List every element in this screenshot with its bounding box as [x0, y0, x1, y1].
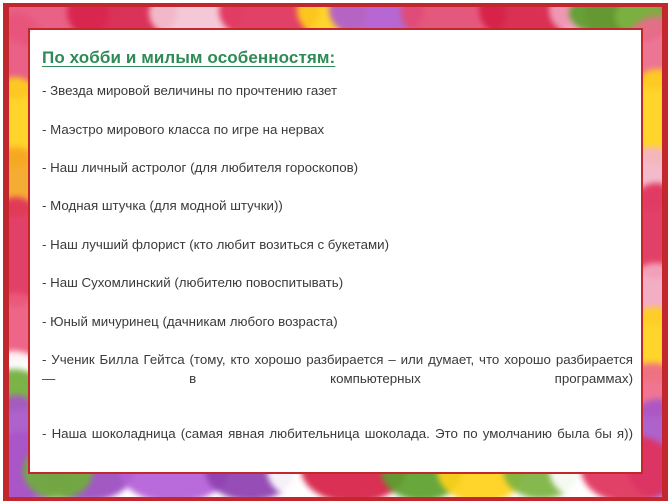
slide: По хобби и милым особенностям: - Звезда … [0, 0, 671, 504]
content-card: По хобби и милым особенностям: - Звезда … [30, 30, 641, 472]
page-title: По хобби и милым особенностям: [42, 47, 633, 68]
list-item: - Наш лучший флорист (кто любит возиться… [42, 236, 633, 255]
list-item: - Наш личный астролог (для любителя горо… [42, 159, 633, 178]
list-item: - Наша шоколадница (самая явная любитель… [42, 425, 633, 463]
nomination-list: - Звезда мировой величины по прочтению г… [42, 82, 633, 472]
list-item: - Маэстро мирового класса по игре на нер… [42, 121, 633, 140]
list-item: - Юный мичуринец (дачникам любого возрас… [42, 313, 633, 332]
list-item: - Звезда мировой величины по прочтению г… [42, 82, 633, 101]
list-item: - Модная штучка (для модной штучки)) [42, 197, 633, 216]
list-item: - Наш Сухомлинский (любителю повоспитыва… [42, 274, 633, 293]
list-item: - Ученик Билла Гейтса (тому, кто хорошо … [42, 351, 633, 408]
